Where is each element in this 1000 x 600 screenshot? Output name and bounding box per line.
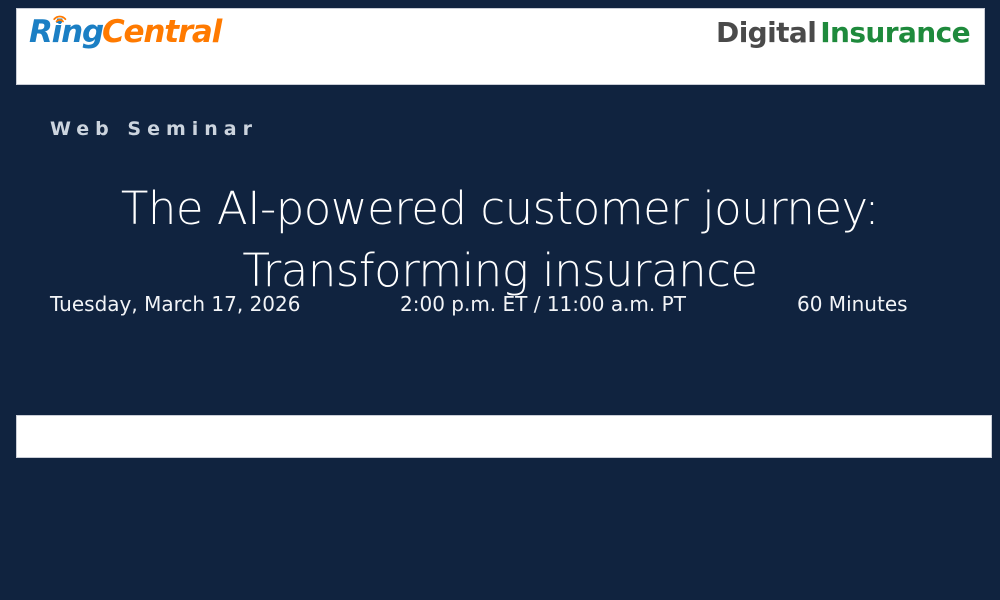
event-duration: 60 Minutes <box>797 291 908 317</box>
page-title: The AI-powered customer journey: Transfo… <box>0 178 1000 302</box>
event-time: 2:00 p.m. ET / 11:00 a.m. PT <box>400 291 686 317</box>
ringcentral-logo[interactable]: RingCentral <box>29 17 221 48</box>
ringcentral-logo-central: Central <box>102 17 221 48</box>
content-panel <box>16 415 992 458</box>
event-type-eyebrow: Web Seminar <box>50 118 258 140</box>
digital-insurance-logo-insurance: Insurance <box>820 16 970 49</box>
webinar-promo-page: RingCentral DigitalInsurance Web Seminar… <box>0 0 1000 600</box>
header-panel: RingCentral DigitalInsurance <box>16 8 985 85</box>
event-details-row: Tuesday, March 17, 2026 2:00 p.m. ET / 1… <box>0 291 1000 321</box>
page-title-line-1: The AI-powered customer journey: <box>0 178 1000 240</box>
hero-section: Web Seminar The AI-powered customer jour… <box>0 86 1000 411</box>
digital-insurance-logo[interactable]: DigitalInsurance <box>716 19 970 47</box>
footer-area <box>0 458 1000 600</box>
event-date: Tuesday, March 17, 2026 <box>50 291 300 317</box>
digital-insurance-logo-digital: Digital <box>716 16 816 49</box>
wifi-signal-icon <box>52 12 68 24</box>
